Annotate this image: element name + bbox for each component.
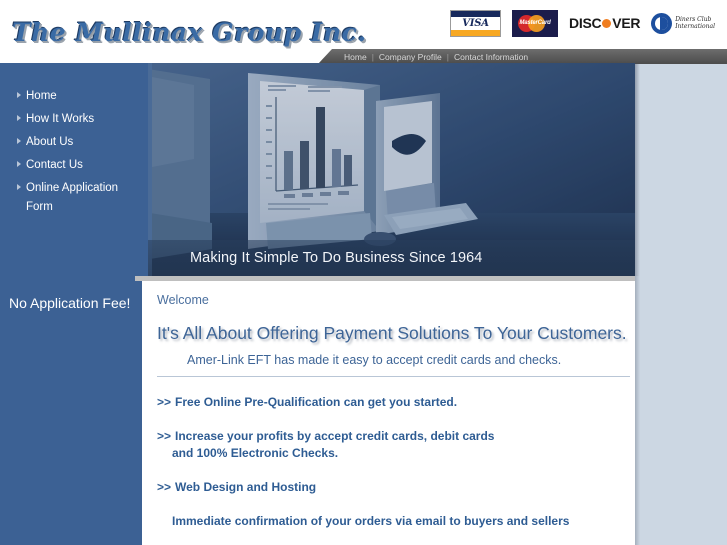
page-subtitle: Amer-Link EFT has made it easy to accept… — [187, 353, 635, 367]
sidebar-item-about-us[interactable]: About Us — [17, 133, 147, 152]
discover-wordmark-a: DISC — [569, 15, 601, 31]
list-item[interactable]: >>Web Design and Hosting — [157, 479, 635, 496]
visa-mid-band: VISA — [451, 17, 500, 30]
visa-bottom-band — [451, 30, 500, 36]
sidebar-item-label: Online Application Form — [26, 179, 126, 217]
list-item-text: Immediate confirmation of your orders vi… — [157, 513, 635, 530]
feature-bullet-list: >>Free Online Pre-Qualification can get … — [157, 394, 635, 530]
diners-club-split-circle-icon — [651, 13, 672, 34]
topnav-separator: | — [447, 52, 449, 62]
panel-inner: Welcome It's All About Offering Payment … — [142, 281, 635, 545]
list-item-text: Free Online Pre-Qualification can get yo… — [175, 395, 457, 409]
welcome-label: Welcome — [157, 293, 635, 307]
sidebar-item-home[interactable]: Home — [17, 87, 147, 106]
topnav-item-company-profile[interactable]: Company Profile — [379, 52, 442, 62]
diners-club-card-logo: Diners Club International — [651, 13, 715, 34]
topnav-separator: | — [372, 52, 374, 62]
sidebar-nav-list: Home How It Works About Us Contact Us On… — [17, 87, 147, 221]
sidebar-item-how-it-works[interactable]: How It Works — [17, 110, 147, 129]
diners-club-line1: Diners Club — [675, 16, 711, 23]
page-title: It's All About Offering Payment Solution… — [157, 323, 635, 344]
triangle-bullet-icon — [17, 87, 26, 98]
sidebar-item-label: Home — [26, 87, 57, 106]
panel-left-accent-bar — [135, 281, 142, 545]
sidebar-item-online-application-form[interactable]: Online Application Form — [17, 179, 147, 217]
page-root: The Mullinax Group Inc. VISA MasterCard … — [0, 0, 727, 545]
double-arrow-marker-icon: >> — [157, 429, 171, 443]
hero-right-shadow — [635, 63, 640, 276]
list-item-text: Increase your profits by accept credit c… — [175, 429, 494, 443]
hero-tagline-text: Making It Simple To Do Business Since 19… — [148, 250, 482, 266]
list-item[interactable]: >>Free Online Pre-Qualification can get … — [157, 394, 635, 411]
topnav-item-contact-information[interactable]: Contact Information — [454, 52, 528, 62]
no-application-fee-promo: No Application Fee! — [9, 295, 130, 311]
diners-club-wordmark: Diners Club International — [675, 16, 715, 30]
triangle-bullet-icon — [17, 156, 26, 167]
accepted-cards-strip: VISA MasterCard DISC VER Diners Club Int… — [450, 9, 715, 37]
mastercard-wordmark: MasterCard — [517, 20, 553, 26]
triangle-bullet-icon — [17, 110, 26, 121]
discover-card-logo: DISC VER — [569, 15, 640, 31]
sidebar-item-contact-us[interactable]: Contact Us — [17, 156, 147, 175]
hero-tagline-bar: Making It Simple To Do Business Since 19… — [148, 240, 635, 276]
panel-right-shadow — [635, 276, 640, 545]
double-arrow-marker-icon: >> — [157, 480, 171, 494]
diners-club-line2: International — [675, 23, 715, 30]
list-item[interactable]: Immediate confirmation of your orders vi… — [157, 513, 635, 530]
site-logo[interactable]: The Mullinax Group Inc. — [12, 18, 367, 47]
hero-banner: Making It Simple To Do Business Since 19… — [148, 63, 635, 276]
sidebar-item-label: How It Works — [26, 110, 94, 129]
list-item-text-line2: and 100% Electronic Checks. — [157, 445, 635, 462]
triangle-bullet-icon — [17, 179, 26, 190]
sidebar-item-label: Contact Us — [26, 156, 83, 175]
topnav-item-home[interactable]: Home — [344, 52, 367, 62]
discover-orange-o-icon — [602, 19, 611, 28]
horizontal-divider — [157, 376, 630, 377]
visa-wordmark: VISA — [462, 18, 489, 29]
top-navigation-bar: Home | Company Profile | Contact Informa… — [318, 49, 727, 64]
sidebar-item-label: About Us — [26, 133, 73, 152]
list-item[interactable]: >>Increase your profits by accept credit… — [157, 428, 635, 462]
discover-wordmark-b: VER — [612, 15, 640, 31]
mastercard-card-logo: MasterCard — [512, 10, 558, 37]
sidebar: Home How It Works About Us Contact Us On… — [0, 63, 148, 545]
list-item-text: Web Design and Hosting — [175, 480, 316, 494]
main-content-panel: Welcome It's All About Offering Payment … — [135, 276, 635, 545]
visa-card-logo: VISA — [450, 10, 501, 37]
double-arrow-marker-icon: >> — [157, 395, 171, 409]
triangle-bullet-icon — [17, 133, 26, 144]
